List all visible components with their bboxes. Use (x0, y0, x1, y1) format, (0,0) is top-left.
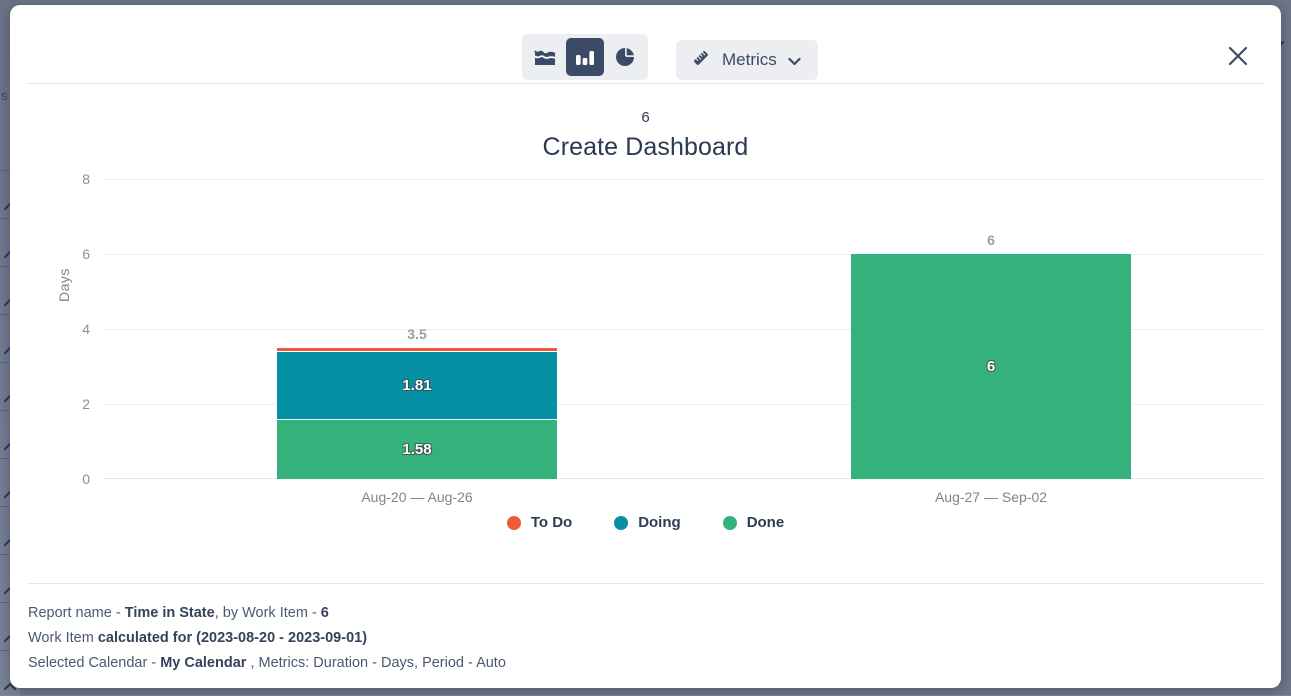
background-edge-label: s (1, 88, 8, 103)
legend-color-swatch (507, 516, 521, 530)
bar-segment-value: 6 (987, 359, 995, 374)
chevron-down-icon (788, 55, 801, 68)
bar-segment-value: 1.81 (402, 378, 431, 393)
bar-total-label: 6 (851, 232, 1131, 248)
footer-line-calendar: Selected Calendar - My Calendar , Metric… (28, 651, 1263, 676)
legend-item-todo[interactable]: To Do (507, 514, 572, 531)
chart-title: Create Dashboard (28, 133, 1263, 162)
close-button[interactable] (1221, 39, 1255, 73)
x-axis-tick: Aug-20 — Aug-26 (277, 489, 557, 505)
legend-color-swatch (614, 516, 628, 530)
bar-segment-doing[interactable]: 1.81 (277, 352, 557, 420)
footer-line-calculated-for: Work Item calculated for (2023-08-20 - 2… (28, 626, 1263, 651)
footer-text: , Metrics: Duration - Days, Period - Aut… (246, 655, 505, 671)
footer-line-report-name: Report name - Time in State, by Work Ite… (28, 601, 1263, 626)
y-axis-tick: 4 (82, 321, 90, 337)
footer-text: , by Work Item - (215, 605, 321, 621)
modal-header: Metrics (28, 5, 1263, 84)
bar-segment-value: 1.58 (402, 442, 431, 457)
footer-text: Work Item (28, 630, 98, 646)
chart-type-switcher[interactable] (522, 34, 648, 80)
footer-date-range: calculated for (2023-08-20 - 2023-09-01) (98, 630, 367, 646)
chart-subcount: 6 (28, 109, 1263, 126)
metrics-dropdown-button[interactable]: Metrics (676, 40, 818, 80)
footer-report-name: Time in State (125, 605, 215, 621)
legend-label: To Do (531, 514, 572, 531)
bar-total-label: 3.5 (277, 326, 557, 342)
area-chart-icon[interactable] (526, 38, 564, 76)
y-axis-tick: 2 (82, 396, 90, 412)
bar-segment-done[interactable]: 1.58 (277, 420, 557, 479)
bar-group[interactable]: 6 6 (851, 254, 1131, 479)
y-axis-label: Days (56, 268, 72, 302)
gridline (104, 179, 1264, 180)
x-axis-tick: Aug-27 — Sep-02 (851, 489, 1131, 505)
legend-color-swatch (723, 516, 737, 530)
report-modal: Metrics 6 Create Dashboard Days 8 6 4 2 (10, 5, 1281, 688)
footer-text: Selected Calendar - (28, 655, 160, 671)
report-summary-footer: Report name - Time in State, by Work Ite… (28, 583, 1263, 676)
y-axis-tick: 8 (82, 171, 90, 187)
legend-label: Done (747, 514, 785, 531)
legend-item-done[interactable]: Done (723, 514, 785, 531)
pie-chart-icon[interactable] (606, 38, 644, 76)
legend-item-doing[interactable]: Doing (614, 514, 681, 531)
legend-label: Doing (638, 514, 681, 531)
ruler-icon (691, 48, 711, 73)
chart-legend: To Do Doing Done (28, 514, 1263, 531)
y-axis-tick: 6 (82, 246, 90, 262)
metrics-button-label: Metrics (722, 50, 777, 70)
footer-work-item-count: 6 (321, 605, 329, 621)
bar-chart-icon[interactable] (566, 38, 604, 76)
plot-area: 8 6 4 2 0 3.5 0.11 1.81 1.58 Aug-20 — Au… (104, 179, 1264, 479)
bar-group[interactable]: 3.5 0.11 1.81 1.58 (277, 348, 557, 479)
footer-calendar-name: My Calendar (160, 655, 246, 671)
footer-text: Report name - (28, 605, 125, 621)
chart-container: 6 Create Dashboard Days 8 6 4 2 0 3.5 0.… (28, 84, 1263, 574)
y-axis-tick: 0 (82, 471, 90, 487)
bar-segment-done[interactable]: 6 (851, 254, 1131, 479)
